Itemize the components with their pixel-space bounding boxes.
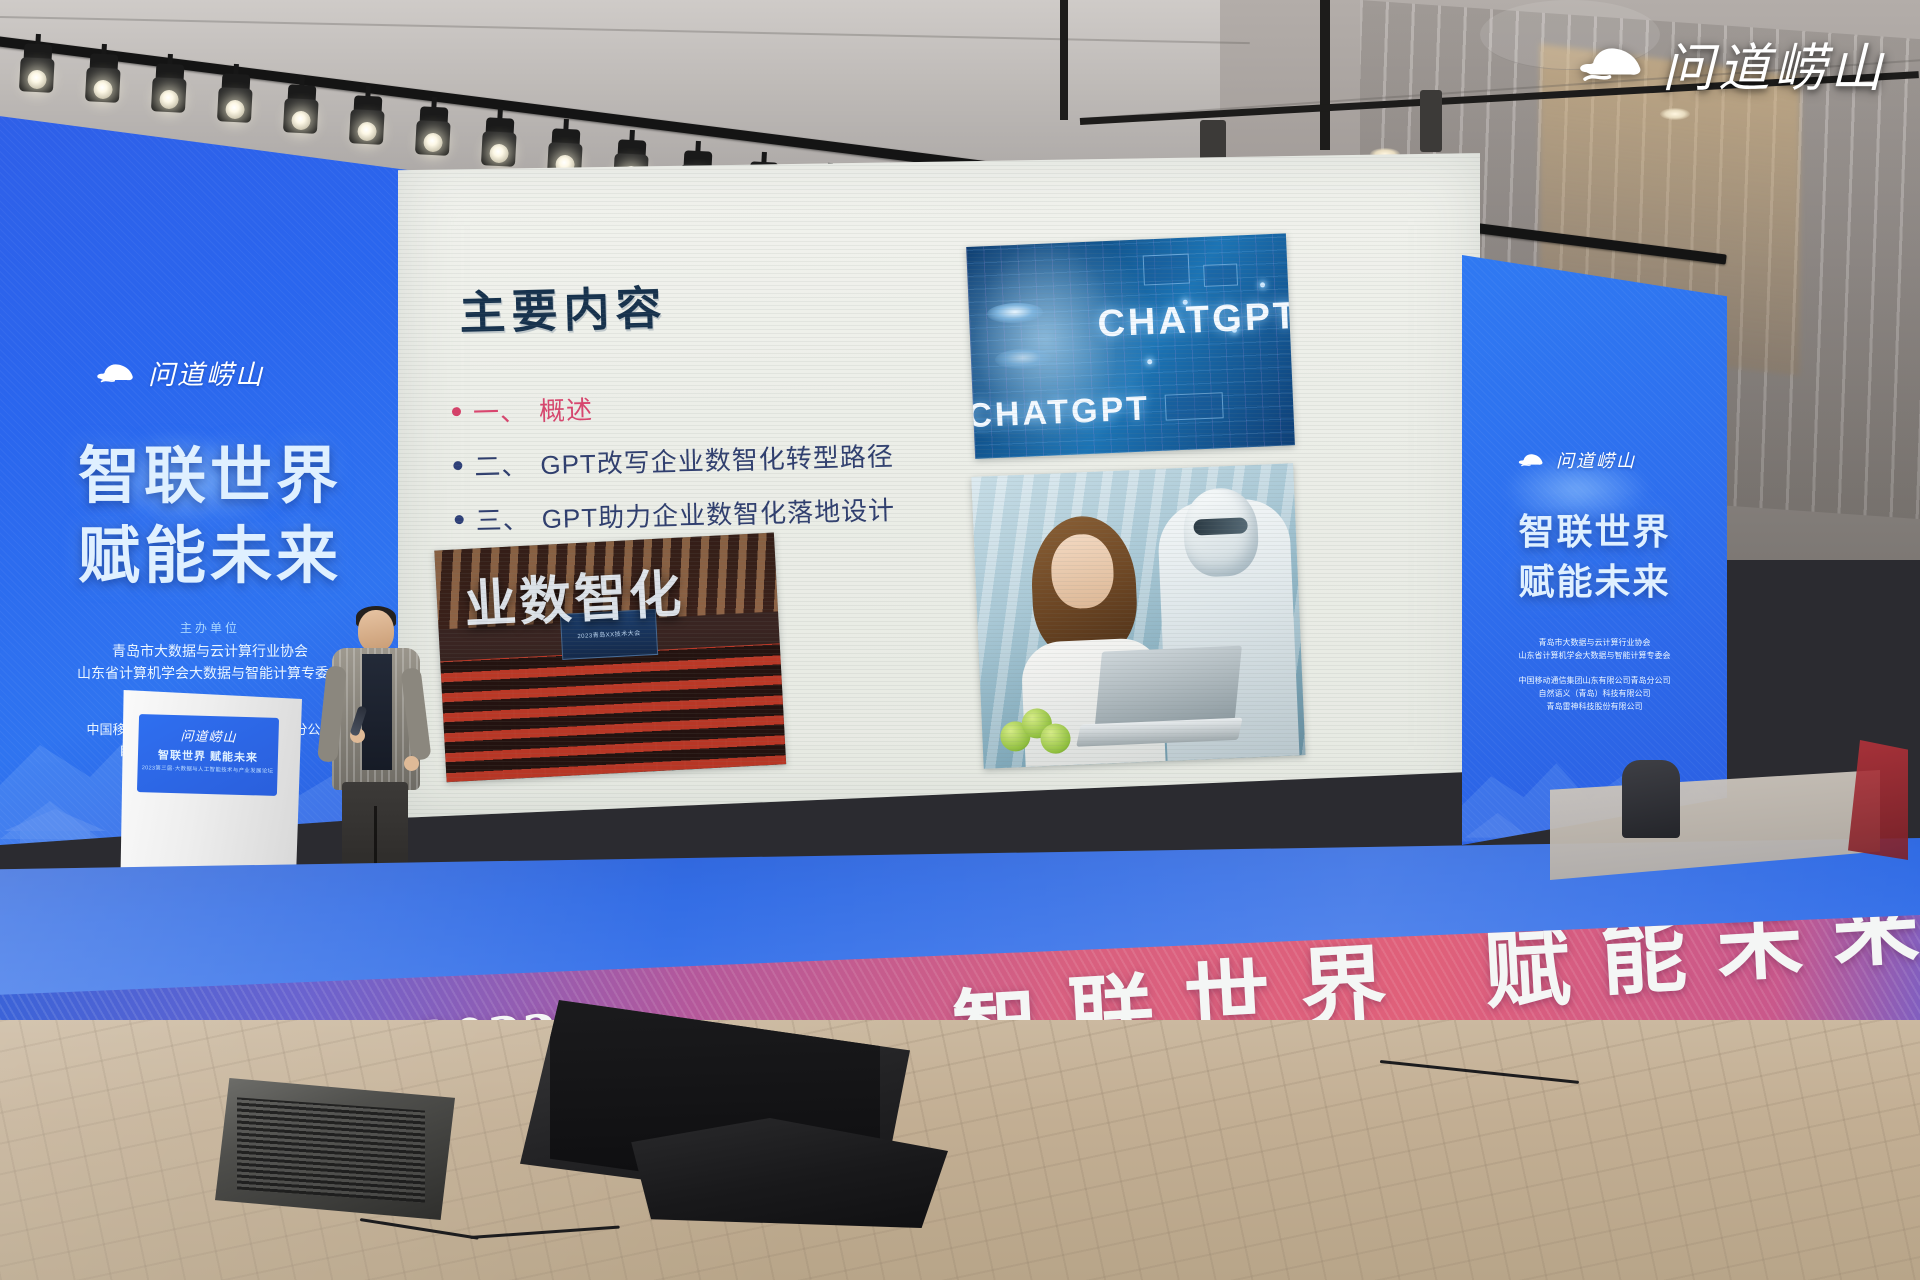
bullet-text: GPT改写企业数智化转型路径 <box>540 436 894 482</box>
left-banner-headline-2: 赋能未来 <box>0 505 420 595</box>
speaker-grill <box>237 1097 425 1202</box>
slide-title: 主要内容 <box>459 272 669 343</box>
watermark-logo: 问道崂山 <box>1578 26 1886 101</box>
auditorium-photo: 2023青岛XX技术大会 业数智化 <box>434 532 786 782</box>
chatgpt-word-bottom: CHATGPT <box>967 389 1151 436</box>
bullet-dot-icon <box>452 407 461 416</box>
rear-red-banner <box>1848 740 1908 860</box>
right-event-banner: 问道崂山 智联世界 赋能未来 青岛市大数据与云计算行业协会 山东省计算机学会大数… <box>1462 255 1727 845</box>
right-banner-brand-text: 问道崂山 <box>1556 447 1636 473</box>
conference-stage-photo: 问道崂山 智联世界 赋能未来 主办单位 青岛市大数据与云计算行业协会 山东省计算… <box>0 0 1920 1280</box>
podium-brand-text: 问道崂山 <box>138 724 278 747</box>
auditorium-overlay-text: 业数智化 <box>462 548 751 638</box>
cloud-mountain-logo-icon <box>96 360 138 386</box>
right-banner-headline-1: 智联世界 <box>1462 503 1727 555</box>
right-banner-brandmark: 问道崂山 <box>1518 447 1636 473</box>
stage-floor-monitor <box>215 1078 455 1220</box>
podium-headline: 智联世界 赋能未来 <box>138 746 278 766</box>
podium-branding-plate: 问道崂山 智联世界 赋能未来 2023第三届·大数据与人工智能技术与产业发展论坛 <box>137 714 279 796</box>
right-banner-headline-2: 赋能未来 <box>1462 553 1727 605</box>
calligraphy-char-7: 未 <box>1713 915 1806 998</box>
left-banner-brand-text: 问道崂山 <box>148 353 264 392</box>
list-item: 二、 GPT改写企业数智化转型路径 <box>453 434 974 484</box>
left-banner-brandmark: 问道崂山 <box>96 353 264 392</box>
left-banner-headline-1: 智联世界 <box>0 425 420 515</box>
podium-subtitle: 2023第三届·大数据与人工智能技术与产业发展论坛 <box>137 764 277 776</box>
speaker-head <box>358 610 394 652</box>
bullet-marker: 二、 <box>474 445 529 483</box>
list-item: 三、 GPT助力企业数智化落地设计 <box>454 488 975 538</box>
apples <box>999 705 1075 754</box>
bullet-marker: 一、 <box>473 391 528 429</box>
bullet-text: GPT助力企业数智化落地设计 <box>541 490 895 536</box>
moving-head-light <box>19 43 56 99</box>
presentation-slide: 主要内容 一、 概述 二、 GPT改写企业数智化转型路径 三、 <box>398 153 1480 818</box>
speaker-hand <box>404 756 419 771</box>
bullet-text: 概述 <box>538 390 593 428</box>
bullet-marker: 三、 <box>475 499 530 537</box>
list-item: 一、 概述 <box>452 380 973 430</box>
watermark-brand-text: 问道崂山 <box>1662 26 1886 101</box>
moving-head-light <box>85 53 122 109</box>
cloud-mountain-logo-icon <box>1518 451 1546 469</box>
calligraphy-char-8: 来 <box>1829 915 1920 984</box>
bullet-dot-icon <box>453 461 462 470</box>
speaker-shirt <box>362 654 392 770</box>
organizer-line: 青岛市大数据与云计算行业协会 <box>1462 637 1727 648</box>
cloud-mountain-logo-icon <box>1578 41 1648 87</box>
woman-robot-laptop-photo <box>971 463 1305 768</box>
calligraphy-char-6: 能 <box>1597 915 1690 1012</box>
organizer-line: 山东省计算机学会大数据与智能计算专委会 <box>1462 650 1727 661</box>
chatgpt-word-top: CHATGPT <box>1097 295 1295 347</box>
bullet-dot-icon <box>455 515 464 524</box>
rear-attendee <box>1622 760 1680 838</box>
chatgpt-circuit-photo: CHATGPT CHATGPT <box>966 233 1295 458</box>
